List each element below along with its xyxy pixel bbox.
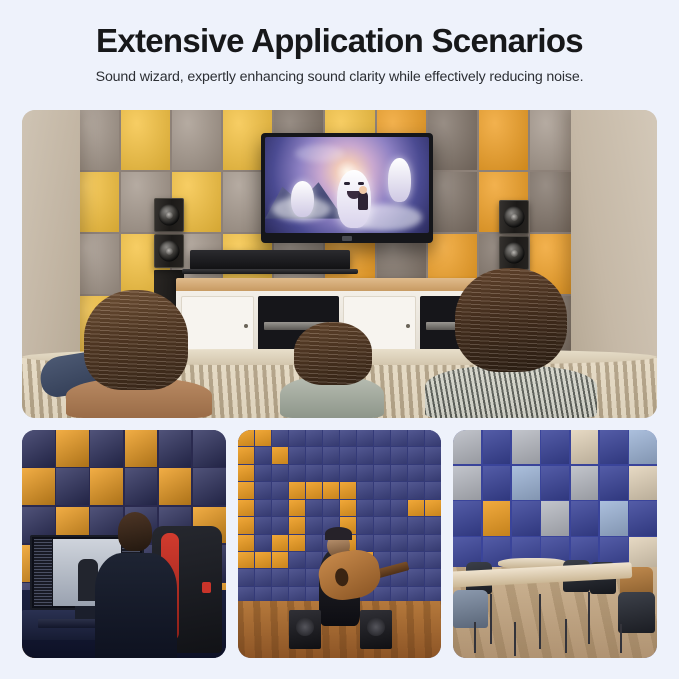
speaker-driver-bottom — [499, 236, 529, 270]
acoustic-panel — [323, 500, 339, 516]
acoustic-panel — [428, 172, 477, 232]
acoustic-panel — [357, 535, 373, 551]
tv-small-yeti — [291, 181, 314, 217]
acoustic-panel — [340, 500, 356, 516]
acoustic-panel — [541, 466, 569, 500]
acoustic-panel — [306, 535, 322, 551]
acoustic-panel — [56, 468, 89, 505]
acoustic-panel — [408, 535, 424, 551]
person-woman-right — [425, 268, 597, 418]
tv-cloud — [295, 145, 344, 162]
acoustic-panel — [121, 110, 170, 170]
chair-leg — [620, 624, 622, 654]
acoustic-panel — [289, 482, 305, 498]
acoustic-panel — [374, 447, 390, 463]
acoustic-panel — [238, 535, 254, 551]
acoustic-panel — [22, 430, 55, 467]
page-subtitle: Sound wizard, expertly enhancing sound c… — [18, 69, 661, 85]
acoustic-panel — [357, 465, 373, 481]
acoustic-panel — [425, 465, 441, 481]
thumbnail-music-room — [238, 430, 442, 658]
acoustic-panel — [391, 430, 407, 446]
acoustic-panel — [374, 465, 390, 481]
acoustic-panel — [255, 430, 271, 446]
person-hair — [84, 290, 188, 390]
acoustic-panel — [408, 465, 424, 481]
acoustic-panel — [306, 517, 322, 533]
acoustic-panel — [483, 430, 511, 464]
monitor-stand — [75, 606, 95, 620]
acoustic-panel — [340, 482, 356, 498]
person-hair — [455, 268, 567, 372]
acoustic-panel — [272, 430, 288, 446]
acoustic-panel — [306, 482, 322, 498]
acoustic-panel — [600, 501, 628, 535]
person-shoulders — [425, 366, 597, 418]
acoustic-panel — [289, 552, 305, 568]
acoustic-panel — [357, 500, 373, 516]
acoustic-panel — [629, 501, 657, 535]
acoustic-panel — [408, 569, 424, 585]
header: Extensive Application Scenarios Sound wi… — [0, 0, 679, 85]
person-seated-body — [95, 553, 176, 658]
acoustic-panel — [357, 430, 373, 446]
acoustic-panel — [541, 430, 569, 464]
acoustic-panel — [340, 447, 356, 463]
tv-small-yeti — [388, 158, 411, 202]
acoustic-panel — [90, 468, 123, 505]
speaker-driver-top — [154, 198, 184, 232]
acoustic-panel — [391, 500, 407, 516]
acoustic-panel — [238, 552, 254, 568]
acoustic-panel — [238, 500, 254, 516]
software-left-panel — [34, 539, 52, 606]
acoustic-panel — [571, 466, 599, 500]
acoustic-panel — [374, 535, 390, 551]
acoustic-panel — [272, 500, 288, 516]
acoustic-panel — [272, 517, 288, 533]
speaker-cone — [504, 207, 525, 228]
acoustic-panel — [255, 517, 271, 533]
acoustic-panel — [357, 482, 373, 498]
acoustic-panel — [255, 500, 271, 516]
acoustic-panel — [323, 482, 339, 498]
acoustic-panel — [289, 430, 305, 446]
acoustic-panel — [289, 447, 305, 463]
acoustic-panel — [289, 535, 305, 551]
table-leg — [539, 594, 541, 649]
tv-brand-logo — [342, 236, 352, 241]
acoustic-panel — [125, 430, 158, 467]
chair-leg — [565, 619, 567, 653]
acoustic-panel — [408, 430, 424, 446]
acoustic-panel — [425, 535, 441, 551]
acoustic-panel — [255, 482, 271, 498]
person-boy-center — [280, 322, 384, 418]
acoustic-panel — [159, 430, 192, 467]
acoustic-panel — [323, 430, 339, 446]
acoustic-panel — [541, 501, 569, 535]
acoustic-panel — [193, 430, 226, 467]
acoustic-panel — [340, 430, 356, 446]
acoustic-panel — [238, 517, 254, 533]
acoustic-panel — [238, 447, 254, 463]
acoustic-panel — [629, 466, 657, 500]
hero-scene — [22, 110, 657, 418]
acoustic-panel — [483, 466, 511, 500]
acoustic-panel — [289, 465, 305, 481]
amplifier-right — [360, 610, 393, 649]
acoustic-panel — [408, 482, 424, 498]
acoustic-panel — [425, 552, 441, 568]
acoustic-panel — [238, 569, 254, 585]
acoustic-panel — [391, 447, 407, 463]
acoustic-panel — [453, 501, 481, 535]
acoustic-panel — [391, 517, 407, 533]
acoustic-panel — [357, 447, 373, 463]
acoustic-panel — [425, 517, 441, 533]
page-title: Extensive Application Scenarios — [18, 22, 661, 60]
acoustic-panel — [272, 482, 288, 498]
acoustic-panel — [238, 430, 254, 446]
acoustic-panel — [600, 430, 628, 464]
acoustic-panel — [408, 500, 424, 516]
acoustic-panel — [306, 465, 322, 481]
acoustic-panel — [374, 517, 390, 533]
speaker-driver-bottom — [154, 234, 184, 268]
acoustic-panel — [22, 468, 55, 505]
chair-leg — [514, 622, 516, 656]
acoustic-panel — [425, 430, 441, 446]
acoustic-panel — [56, 430, 89, 467]
person-seated-head — [118, 512, 153, 551]
acoustic-panel — [425, 569, 441, 585]
thumbnail-row — [22, 430, 657, 658]
acoustic-panel — [571, 430, 599, 464]
acoustic-panel — [425, 447, 441, 463]
acoustic-panel — [306, 447, 322, 463]
application-scenarios-page: Extensive Application Scenarios Sound wi… — [0, 0, 679, 679]
acoustic-panel — [357, 517, 373, 533]
acoustic-panel — [374, 482, 390, 498]
acoustic-panel — [90, 430, 123, 467]
acoustic-panel — [255, 552, 271, 568]
acoustic-panel — [272, 552, 288, 568]
acoustic-panel — [159, 468, 192, 505]
acoustic-panel — [340, 465, 356, 481]
acoustic-panel — [289, 517, 305, 533]
acoustic-panel — [629, 430, 657, 464]
acoustic-panel — [512, 430, 540, 464]
hero-image-living-room — [22, 110, 657, 418]
acoustic-panel — [255, 465, 271, 481]
table-leg — [588, 592, 590, 644]
acoustic-panel — [323, 465, 339, 481]
speaker-cone — [159, 205, 180, 226]
acoustic-panel — [600, 466, 628, 500]
acoustic-panel — [289, 500, 305, 516]
acoustic-panel — [272, 569, 288, 585]
acoustic-panel — [479, 110, 528, 170]
acoustic-panel — [408, 447, 424, 463]
amplifier-left — [289, 610, 322, 649]
soundbar — [190, 250, 350, 270]
speaker-cone — [159, 241, 180, 262]
acoustic-panel — [571, 501, 599, 535]
acoustic-panel — [453, 430, 481, 464]
acoustic-panel — [272, 535, 288, 551]
acoustic-panel — [238, 482, 254, 498]
acoustic-panel — [408, 552, 424, 568]
wall-mounted-tv — [261, 133, 433, 243]
tv-screen — [265, 137, 429, 233]
acoustic-panel — [193, 468, 226, 505]
acoustic-panel — [391, 465, 407, 481]
tv-child-character — [358, 191, 368, 210]
acoustic-panel — [272, 465, 288, 481]
speaker-driver-top — [499, 200, 529, 234]
person-woman-left — [62, 290, 212, 418]
acoustic-panel — [453, 466, 481, 500]
acoustic-panel — [255, 535, 271, 551]
acoustic-panel — [255, 447, 271, 463]
acoustic-panel — [483, 501, 511, 535]
acoustic-panel — [306, 430, 322, 446]
acoustic-panel — [255, 569, 271, 585]
acoustic-panel — [391, 535, 407, 551]
thumbnail-home-studio — [22, 430, 226, 658]
acoustic-panel — [408, 517, 424, 533]
acoustic-panel — [238, 465, 254, 481]
acoustic-panel — [172, 110, 221, 170]
thumbnail-office-meeting-room — [453, 430, 657, 658]
chair-logo — [202, 582, 211, 593]
acoustic-panel — [391, 482, 407, 498]
person-hair — [294, 322, 372, 385]
acoustic-panel-grid — [453, 430, 657, 571]
acoustic-panel — [374, 430, 390, 446]
table-leg — [490, 594, 492, 644]
acoustic-panel — [374, 500, 390, 516]
office-chair-front — [453, 590, 488, 629]
acoustic-panel — [428, 110, 477, 170]
acoustic-panel — [306, 500, 322, 516]
office-chair-front — [618, 592, 655, 633]
chair-leg — [474, 622, 476, 654]
acoustic-panel — [512, 501, 540, 535]
acoustic-panel — [425, 500, 441, 516]
acoustic-panel — [289, 569, 305, 585]
acoustic-panel — [272, 447, 288, 463]
acoustic-panel — [323, 447, 339, 463]
acoustic-panel — [125, 468, 158, 505]
acoustic-panel — [512, 466, 540, 500]
speaker-cone — [504, 243, 525, 264]
acoustic-panel — [425, 482, 441, 498]
